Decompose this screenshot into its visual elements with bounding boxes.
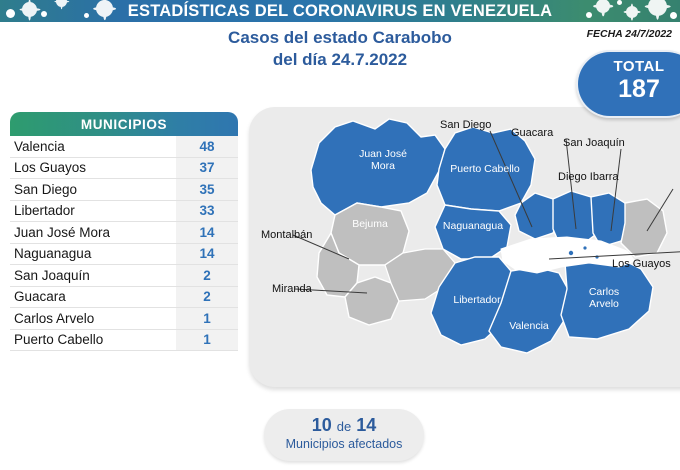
municipality-name: Juan José Mora <box>10 225 176 240</box>
table-row[interactable]: Puerto Cabello 1 <box>10 330 238 352</box>
carabobo-map <box>249 107 680 387</box>
municipality-naguanagua[interactable] <box>435 205 511 259</box>
municipality-name: Carlos Arvelo <box>10 311 176 326</box>
banner-title: ESTADÍSTICAS DEL CORONAVIRUS EN VENEZUEL… <box>0 0 680 22</box>
map-callout-san-diego: San Diego <box>440 119 491 131</box>
municipality-cases: 48 <box>176 136 238 157</box>
table-row[interactable]: Valencia 48 <box>10 136 238 158</box>
municipality-cases: 37 <box>176 158 238 179</box>
subtitle-line-2: del día 24.7.2022 <box>160 49 520 71</box>
map-callout-guacara: Guacara <box>511 127 553 139</box>
total-municipalities: 14 <box>356 415 376 435</box>
municipality-cases: 2 <box>176 287 238 308</box>
table-body: Valencia 48 Los Guayos 37 San Diego 35 L… <box>10 136 238 351</box>
table-row[interactable]: San Joaquín 2 <box>10 265 238 287</box>
ratio-connector: de <box>337 419 351 434</box>
municipality-cases: 35 <box>176 179 238 200</box>
report-date: FECHA 24/7/2022 <box>587 28 672 40</box>
page-subtitle: Casos del estado Carabobo del día 24.7.2… <box>160 27 520 71</box>
lake-island <box>569 251 573 255</box>
municipality-cases: 1 <box>176 330 238 351</box>
municipality-puerto-cabello[interactable] <box>437 127 535 211</box>
table-row[interactable]: Juan José Mora 14 <box>10 222 238 244</box>
total-value: 187 <box>578 75 680 103</box>
table-row[interactable]: Naguanagua 14 <box>10 244 238 266</box>
municipality-diego-ibarra[interactable] <box>621 199 667 257</box>
affected-caption: Municipios afectados <box>264 437 424 452</box>
municipality-name: Valencia <box>10 139 176 154</box>
table-row[interactable]: San Diego 35 <box>10 179 238 201</box>
municipality-name: Puerto Cabello <box>10 332 176 347</box>
municipality-cases: 14 <box>176 244 238 265</box>
affected-ratio: 10 de 14 <box>264 415 424 437</box>
total-label: TOTAL <box>578 58 680 75</box>
table-row[interactable]: Libertador 33 <box>10 201 238 223</box>
table-row[interactable]: Los Guayos 37 <box>10 158 238 180</box>
municipality-cases: 1 <box>176 308 238 329</box>
table-header: MUNICIPIOS <box>10 112 238 136</box>
affected-summary-badge: 10 de 14 Municipios afectados <box>264 409 424 461</box>
map-callout-los-guayos: Los Guayos <box>612 258 671 270</box>
municipality-name: Guacara <box>10 289 176 304</box>
affected-count: 10 <box>312 415 332 435</box>
subtitle-line-1: Casos del estado Carabobo <box>160 27 520 49</box>
map-callout-diego-ibarra: Diego Ibarra <box>558 171 619 183</box>
municipality-name: Naguanagua <box>10 246 176 261</box>
municipios-table: MUNICIPIOS Valencia 48 Los Guayos 37 San… <box>10 112 238 351</box>
municipality-cases: 14 <box>176 222 238 243</box>
municipality-cases: 2 <box>176 265 238 286</box>
municipality-name: Libertador <box>10 203 176 218</box>
page-banner: ESTADÍSTICAS DEL CORONAVIRUS EN VENEZUEL… <box>0 0 680 22</box>
lake-island <box>583 246 586 249</box>
table-row[interactable]: Carlos Arvelo 1 <box>10 308 238 330</box>
total-badge: TOTAL 187 <box>576 50 680 118</box>
map-callout-miranda: Miranda <box>272 283 312 295</box>
map-callout-montalban: Montalbán <box>261 229 312 241</box>
table-row[interactable]: Guacara 2 <box>10 287 238 309</box>
municipality-juan-jose-mora[interactable] <box>311 119 445 215</box>
municipality-cases: 33 <box>176 201 238 222</box>
municipality-name: Los Guayos <box>10 160 176 175</box>
map-callout-san-joaquin: San Joaquín <box>563 137 625 149</box>
map-panel: Juan José Mora Puerto Cabello Naguanagua… <box>249 107 680 387</box>
municipality-name: San Joaquín <box>10 268 176 283</box>
municipality-name: San Diego <box>10 182 176 197</box>
